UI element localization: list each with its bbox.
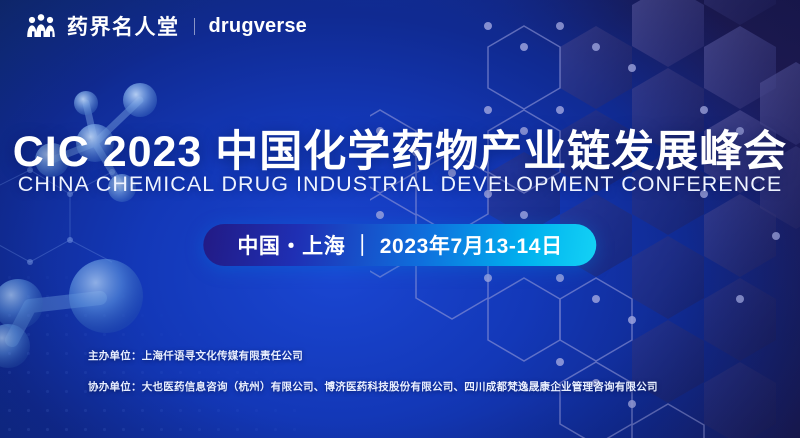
brand-logo-bar[interactable]: 药界名人堂 drugverse bbox=[26, 11, 307, 41]
cohost-organization-text: 协办单位：大也医药信息咨询（杭州）有限公司、博济医药科技股份有限公司、四川成都梵… bbox=[88, 379, 658, 394]
organizer-footer: 主办单位：上海仟语寻文化传媒有限责任公司 协办单位：大也医药信息咨询（杭州）有限… bbox=[88, 348, 658, 394]
brand-name-cn: 药界名人堂 bbox=[67, 11, 180, 41]
people-group-icon bbox=[26, 13, 56, 39]
conference-banner: 药界名人堂 drugverse CIC 2023 中国化学药物产业链发展峰会 C… bbox=[0, 0, 800, 438]
date-location-badge: 中国・上海 ｜ 2023年7月13-14日 bbox=[203, 224, 596, 266]
host-organization-text: 主办单位：上海仟语寻文化传媒有限责任公司 bbox=[88, 348, 658, 363]
brand-name-en: drugverse bbox=[209, 15, 308, 38]
logo-divider bbox=[194, 18, 195, 35]
conference-title-en: CHINA CHEMICAL DRUG INDUSTRIAL DEVELOPME… bbox=[0, 172, 800, 197]
conference-title-cn: CIC 2023 中国化学药物产业链发展峰会 bbox=[0, 117, 800, 179]
date-location-text: 中国・上海 ｜ 2023年7月13-14日 bbox=[237, 230, 562, 260]
